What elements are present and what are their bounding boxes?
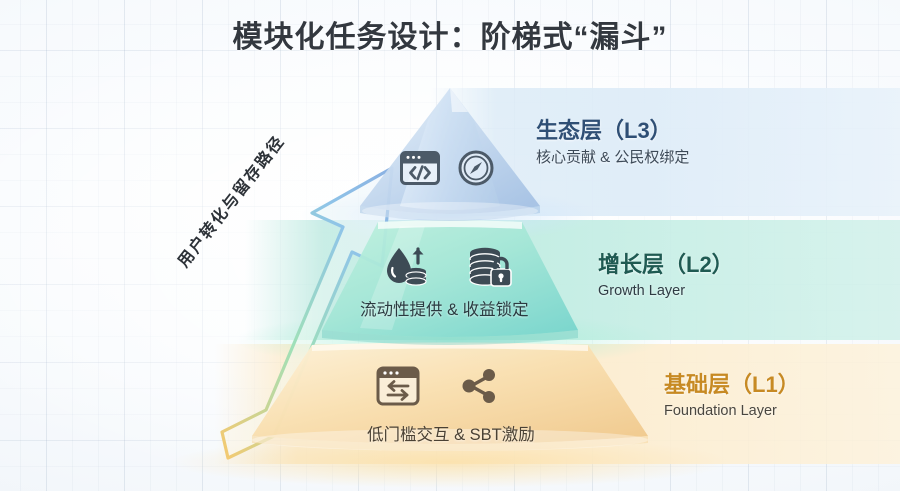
liquidity-droplet-icon: [383, 245, 439, 294]
layer-label-l1: 基础层（L1） Foundation Layer: [664, 371, 800, 420]
coins-lock-icon: [465, 245, 513, 294]
layer-subtitle-l3: 核心贡献 & 公民权绑定: [536, 148, 689, 168]
layer-icons-l2: [383, 245, 513, 294]
layer-label-l2: 增长层（L2） Growth Layer: [598, 251, 734, 300]
layer-label-l3: 生态层（L3） 核心贡献 & 公民权绑定: [536, 117, 689, 167]
layer-icons-l1: [376, 366, 500, 411]
page-title: 模块化任务设计：阶梯式“漏斗”: [0, 12, 900, 56]
share-node-icon: [460, 366, 500, 411]
layer-subtitle-l1: Foundation Layer: [664, 402, 800, 421]
code-window-icon: [400, 151, 440, 190]
slide-canvas: 模块化任务设计：阶梯式“漏斗” 用户转化与留存路径: [0, 0, 900, 491]
layer-title-l3: 生态层（L3）: [536, 117, 689, 145]
layer-icons-l3: [400, 150, 494, 191]
layer-caption-l2: 流动性提供 & 收益锁定: [360, 296, 529, 320]
compass-icon: [458, 150, 494, 191]
layer-subtitle-l2: Growth Layer: [598, 282, 734, 301]
layer-title-l2: 增长层（L2）: [598, 251, 734, 279]
layer-caption-l1: 低门槛交互 & SBT激励: [367, 421, 535, 445]
layer-title-l1: 基础层（L1）: [664, 371, 800, 399]
swap-window-icon: [376, 366, 420, 411]
